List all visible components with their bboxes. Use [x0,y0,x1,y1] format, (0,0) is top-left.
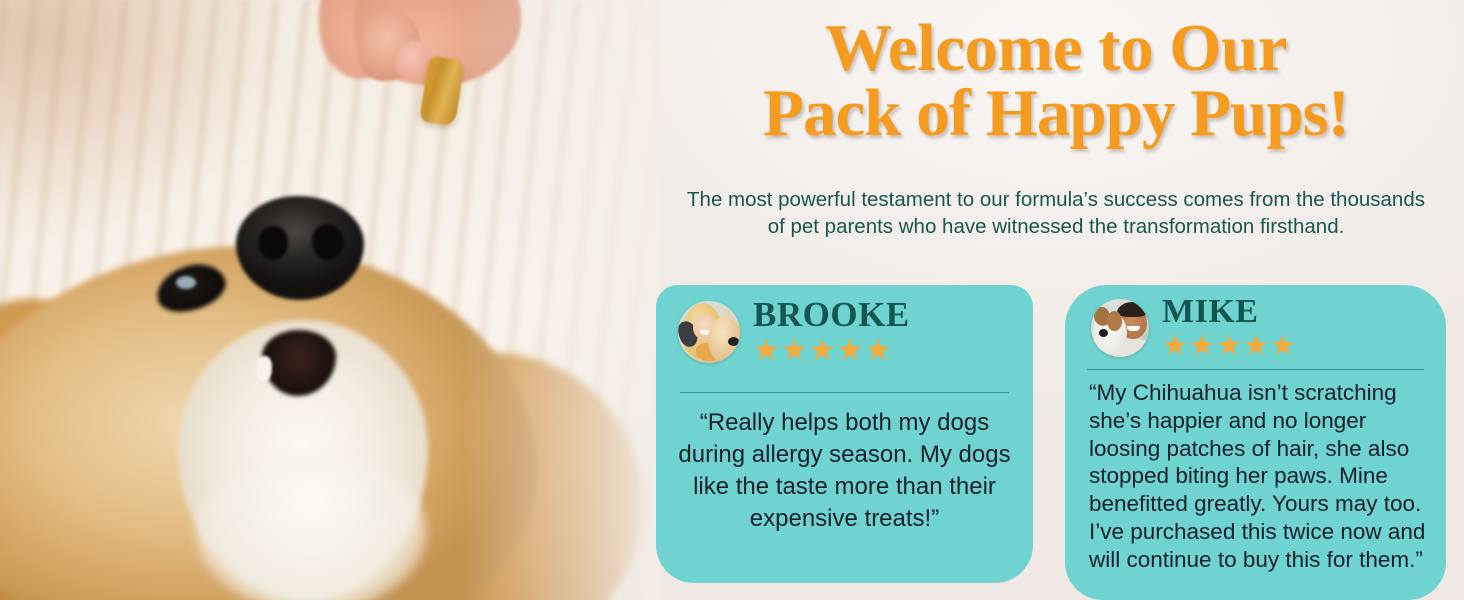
review-quote: “My Chihuahua isn’t scratching she’s hap… [1089,379,1428,573]
photo-edge-fade [0,0,660,600]
review-quote: “Really helps both my dogs during allerg… [672,407,1017,535]
testimonial-card-brooke[interactable]: BROOKE ★★★★★ “Really helps both my dogs … [656,285,1033,583]
reviewer-meta: MIKE ★★★★★ [1162,295,1297,361]
testimonial-card-mike[interactable]: MIKE ★★★★★ “My Chihuahua isn’t scratchin… [1065,285,1446,600]
page-title: Welcome to Our Pack of Happy Pups! [648,16,1464,146]
testimonial-card-list: BROOKE ★★★★★ “Really helps both my dogs … [656,285,1456,600]
reviewer-meta: BROOKE ★★★★★ [753,297,910,366]
card-header: MIKE ★★★★★ [1065,285,1446,361]
star-rating-icon: ★★★★★ [1162,332,1297,361]
headline-line-1: Welcome to Our [825,11,1287,85]
card-divider [1087,369,1424,370]
card-header: BROOKE ★★★★★ [656,285,1033,366]
testimonial-banner: Welcome to Our Pack of Happy Pups! The m… [0,0,1464,600]
reviewer-name: BROOKE [753,297,910,332]
avatar-mike [1091,299,1149,357]
avatar-brooke [678,301,740,363]
star-rating-icon: ★★★★★ [753,336,910,366]
reviewer-name: MIKE [1162,295,1297,329]
content-column: Welcome to Our Pack of Happy Pups! The m… [648,0,1464,600]
card-divider [680,392,1009,393]
hero-photo-dog-with-treat [0,0,660,600]
headline-line-2: Pack of Happy Pups! [648,81,1464,146]
subtitle: The most powerful testament to our formu… [684,186,1428,241]
